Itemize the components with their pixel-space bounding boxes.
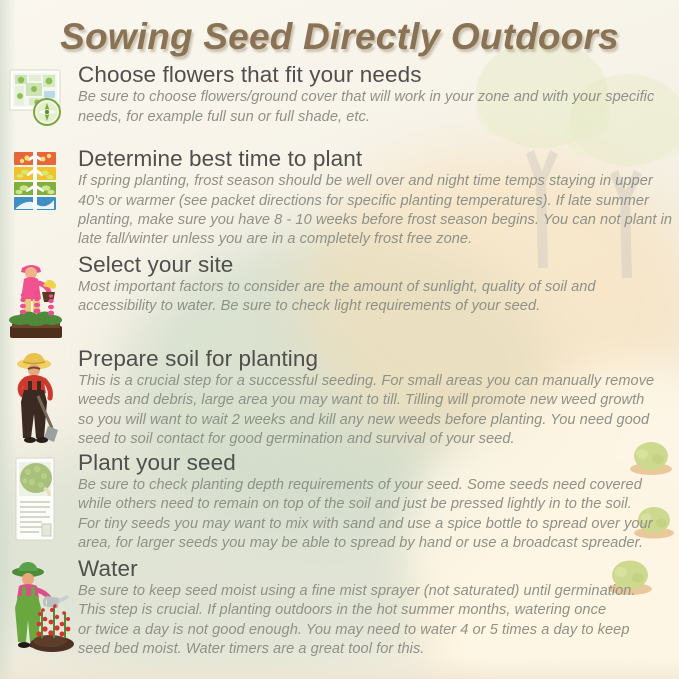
step-body: Select your site Most important factors … [78, 252, 679, 317]
step-item: Choose flowers that fit your needs Be su… [0, 62, 679, 140]
step-item: Select your site Most important factors … [0, 252, 679, 342]
step-body: Determine best time to plant If spring p… [78, 146, 679, 250]
step-item: Plant your seed Be sure to check plantin… [0, 450, 679, 554]
step-heading: Water [78, 556, 671, 581]
step-heading: Choose flowers that fit your needs [78, 62, 671, 87]
garden-plan-map-icon [6, 66, 78, 140]
step-body: Choose flowers that fit your needs Be su… [78, 62, 679, 127]
edge-shade-bottom [0, 657, 679, 679]
step-body: Prepare soil for planting This is a cruc… [78, 346, 679, 450]
step-text: Be sure to keep seed moist using a fine … [78, 582, 671, 660]
step-text: Be sure to check planting depth requirem… [78, 476, 671, 554]
step-heading: Determine best time to plant [78, 146, 672, 171]
step-item: Water Be sure to keep seed moist using a… [0, 556, 679, 660]
gardener-watering-icon [6, 560, 78, 656]
step-body: Plant your seed Be sure to check plantin… [78, 450, 679, 554]
four-seasons-icon [6, 150, 78, 224]
infographic-poster: Sowing Seed Directly Outdoors [0, 0, 679, 679]
step-item: Prepare soil for planting This is a cruc… [0, 346, 679, 450]
step-text: If spring planting, frost season should … [78, 172, 672, 250]
step-heading: Select your site [78, 252, 671, 277]
gardener-with-planter-icon [6, 256, 78, 342]
step-body: Water Be sure to keep seed moist using a… [78, 556, 679, 660]
step-text: Most important factors to consider are t… [78, 278, 671, 317]
page-title: Sowing Seed Directly Outdoors [0, 16, 679, 58]
step-text: This is a crucial step for a successful … [78, 372, 671, 450]
step-heading: Plant your seed [78, 450, 671, 475]
seed-packet-icon [6, 454, 78, 552]
gardener-with-shovel-icon [6, 350, 78, 450]
steps-list: Choose flowers that fit your needs Be su… [0, 62, 679, 659]
step-heading: Prepare soil for planting [78, 346, 671, 371]
step-item: Determine best time to plant If spring p… [0, 146, 679, 250]
step-text: Be sure to choose flowers/ground cover t… [78, 88, 671, 127]
